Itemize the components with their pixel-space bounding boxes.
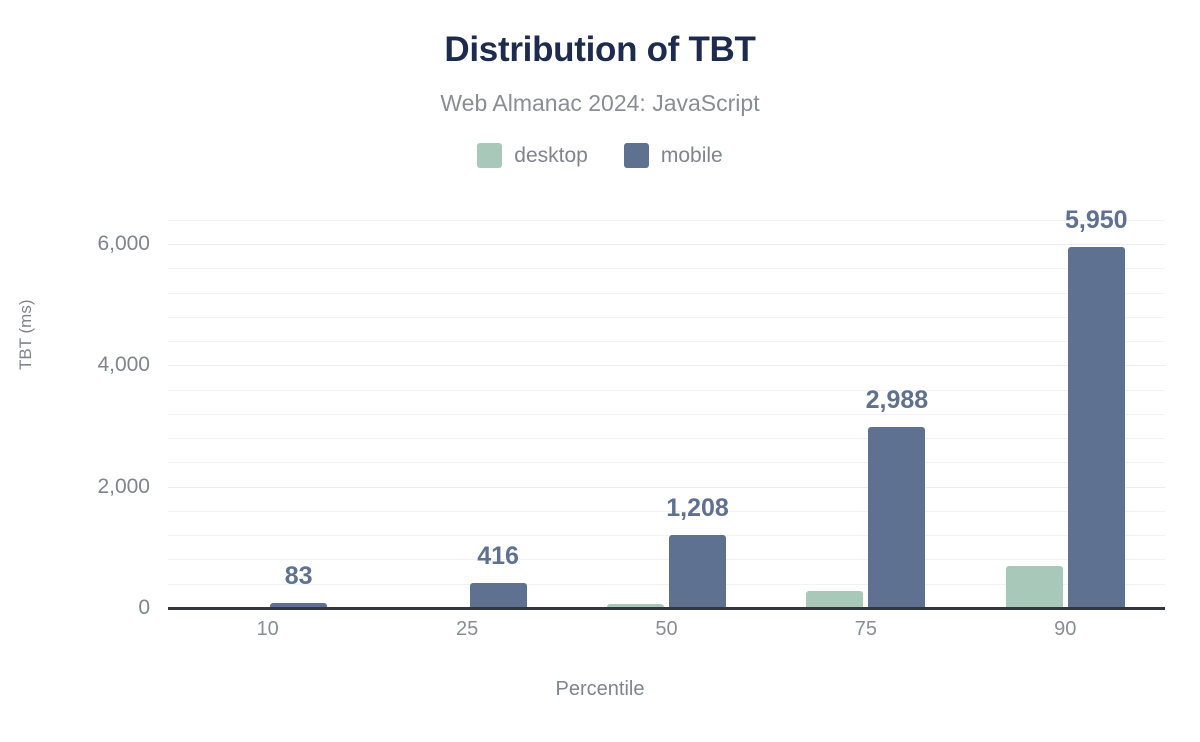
legend-item-desktop[interactable]: desktop xyxy=(477,143,588,168)
bar-mobile-50[interactable] xyxy=(669,535,726,608)
bar-value-label-mobile-25: 416 xyxy=(477,542,519,571)
y-axis-tick-label: 2,000 xyxy=(10,475,150,499)
chart-container: Distribution of TBT Web Almanac 2024: Ja… xyxy=(0,0,1200,742)
y-axis-tick-label: 0 xyxy=(10,596,150,620)
legend-item-mobile[interactable]: mobile xyxy=(624,143,723,168)
legend-label-mobile: mobile xyxy=(661,144,723,168)
chart-subtitle: Web Almanac 2024: JavaScript xyxy=(0,90,1200,117)
x-axis-tick-label-75: 75 xyxy=(806,618,926,641)
bar-desktop-75[interactable] xyxy=(806,591,863,608)
chart-legend: desktop mobile xyxy=(0,143,1200,168)
x-axis-baseline xyxy=(168,607,1165,610)
chart-title: Distribution of TBT xyxy=(0,30,1200,70)
y-axis-title: TBT (ms) xyxy=(16,299,36,370)
x-axis-title: Percentile xyxy=(0,678,1200,701)
bar-value-label-mobile-50: 1,208 xyxy=(666,494,729,523)
legend-swatch-mobile xyxy=(624,143,649,168)
bars-layer: 834161,2082,9885,950 xyxy=(168,203,1165,608)
bar-value-label-mobile-75: 2,988 xyxy=(866,386,929,415)
y-axis-tick-label: 6,000 xyxy=(10,232,150,256)
bar-mobile-25[interactable] xyxy=(470,583,527,608)
legend-swatch-desktop xyxy=(477,143,502,168)
x-axis-tick-label-10: 10 xyxy=(208,618,328,641)
bar-value-label-mobile-90: 5,950 xyxy=(1065,206,1128,235)
bar-value-label-mobile-10: 83 xyxy=(285,562,313,591)
bar-mobile-75[interactable] xyxy=(868,427,925,608)
bar-mobile-90[interactable] xyxy=(1068,247,1125,608)
x-axis-tick-label-90: 90 xyxy=(1005,618,1125,641)
legend-label-desktop: desktop xyxy=(514,144,588,168)
x-axis-tick-label-25: 25 xyxy=(407,618,527,641)
bar-desktop-90[interactable] xyxy=(1006,566,1063,608)
x-axis-tick-label-50: 50 xyxy=(607,618,727,641)
